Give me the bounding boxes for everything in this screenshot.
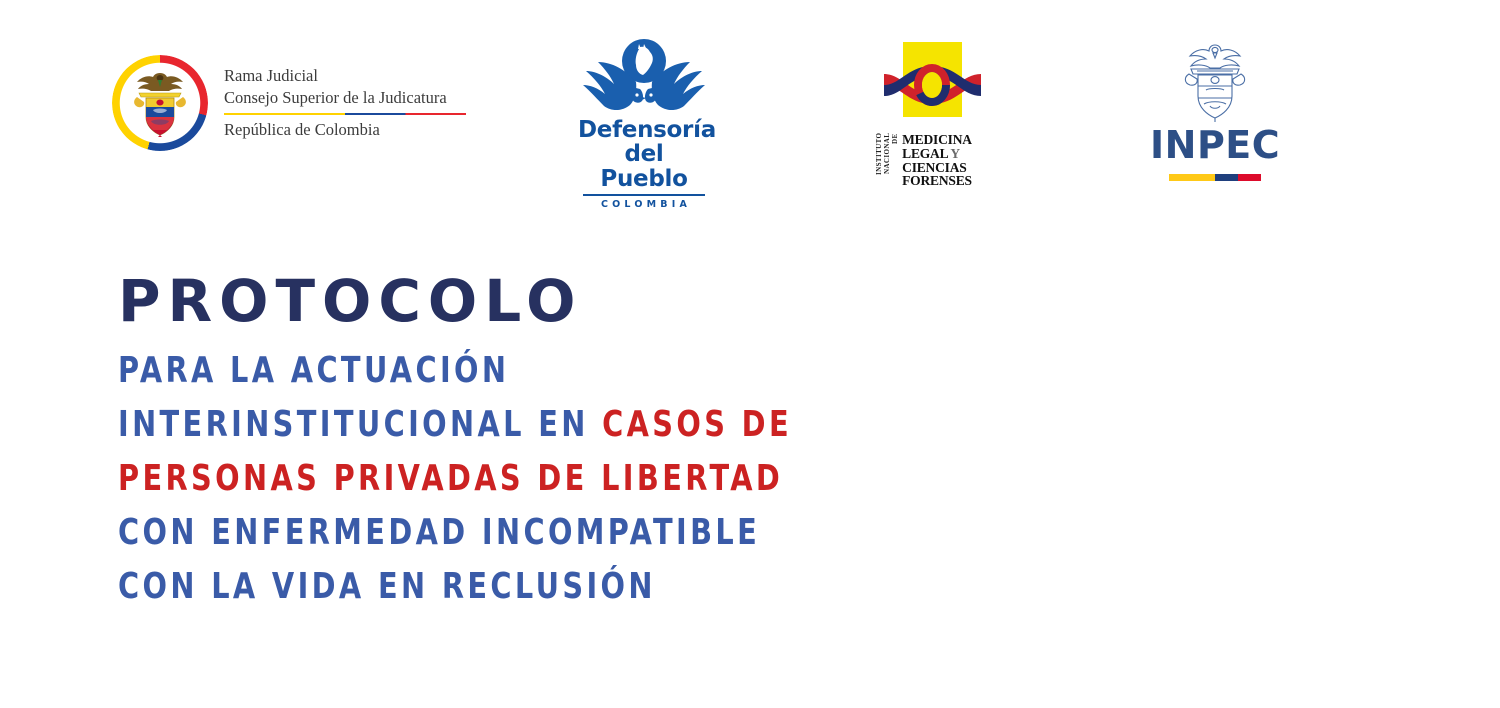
medicina-main-text: MEDICINA LEGAL Y CIENCIAS FORENSES bbox=[902, 133, 972, 188]
defensoria-country-label: COLOMBIA bbox=[578, 199, 710, 210]
subtitle-line-1: PARA LA ACTUACIÓN bbox=[118, 344, 1214, 398]
subtitle-seg-blue: INTERINSTITUCIONAL EN bbox=[118, 404, 602, 445]
coat-of-arms-detail-icon bbox=[129, 69, 191, 137]
logo-medicina-legal: INSTITUTO NACIONAL DE MEDICINA LEGAL Y C… bbox=[875, 42, 987, 188]
document-title-block: PROTOCOLO PARA LA ACTUACIÓN INTERINSTITU… bbox=[118, 272, 1218, 614]
institutional-logo-strip: Rama Judicial Consejo Superior de la Jud… bbox=[0, 0, 1500, 210]
inpec-tricolor-bar bbox=[1169, 174, 1261, 181]
page-subtitle: PARA LA ACTUACIÓN INTERINSTITUCIONAL EN … bbox=[118, 344, 1214, 614]
subtitle-seg-blue: CON ENFERMEDAD INCOMPATIBLE bbox=[118, 512, 760, 553]
subtitle-seg-blue: PARA LA ACTUACIÓN bbox=[118, 350, 509, 391]
subtitle-line-2: INTERINSTITUCIONAL EN CASOS DE bbox=[118, 398, 1214, 452]
medicina-line-1: MEDICINA bbox=[902, 133, 972, 147]
colombia-coat-of-arms-seal-icon bbox=[112, 55, 208, 151]
medicina-line-2-row: LEGAL Y bbox=[902, 147, 972, 161]
subtitle-line-5: CON LA VIDA EN RECLUSIÓN bbox=[118, 560, 1214, 614]
defensoria-line-1: Defensoría bbox=[578, 118, 710, 142]
rama-judicial-wordmark: Rama Judicial Consejo Superior de la Jud… bbox=[224, 65, 466, 141]
subtitle-line-4: CON ENFERMEDAD INCOMPATIBLE bbox=[118, 506, 1214, 560]
page-title: PROTOCOLO bbox=[118, 272, 1218, 330]
eye-infinity-ribbon-icon bbox=[884, 42, 981, 129]
medicina-vertical-line-1: INSTITUTO bbox=[875, 133, 883, 175]
medicina-line-3: CIENCIAS bbox=[902, 161, 972, 175]
rama-line-3: República de Colombia bbox=[224, 119, 466, 141]
inpec-wordmark: INPEC bbox=[1150, 126, 1280, 164]
two-doves-with-colombia-map-icon bbox=[578, 38, 710, 116]
subtitle-seg-red: CASOS DE bbox=[602, 404, 792, 445]
medicina-line-2-suffix: Y bbox=[950, 146, 960, 161]
medicina-line-4: FORENSES bbox=[902, 174, 972, 188]
defensoria-wordmark: Defensoría del Pueblo bbox=[578, 118, 710, 191]
subtitle-seg-red: PERSONAS PRIVADAS DE LIBERTAD bbox=[118, 458, 783, 499]
medicina-line-2: LEGAL bbox=[902, 146, 948, 161]
logo-inpec: INPEC bbox=[1150, 42, 1280, 181]
medicina-vertical-prefix: INSTITUTO NACIONAL DE bbox=[875, 133, 899, 181]
rama-line-2: Consejo Superior de la Judicatura bbox=[224, 87, 466, 109]
defensoria-underline bbox=[583, 194, 705, 196]
tricolor-divider bbox=[224, 113, 466, 116]
logo-rama-judicial: Rama Judicial Consejo Superior de la Jud… bbox=[112, 55, 466, 151]
medicina-vertical-line-2: NACIONAL DE bbox=[883, 133, 899, 174]
defensoria-line-2: del Pueblo bbox=[578, 142, 710, 191]
subtitle-line-3: PERSONAS PRIVADAS DE LIBERTAD bbox=[118, 452, 1214, 506]
subtitle-seg-blue: CON LA VIDA EN RECLUSIÓN bbox=[118, 566, 656, 607]
medicina-legal-wordmark: INSTITUTO NACIONAL DE MEDICINA LEGAL Y C… bbox=[875, 133, 987, 188]
colombia-coat-of-arms-outline-icon bbox=[1179, 42, 1251, 124]
rama-line-1: Rama Judicial bbox=[224, 65, 466, 87]
logo-defensoria-del-pueblo: Defensoría del Pueblo COLOMBIA bbox=[578, 38, 710, 210]
